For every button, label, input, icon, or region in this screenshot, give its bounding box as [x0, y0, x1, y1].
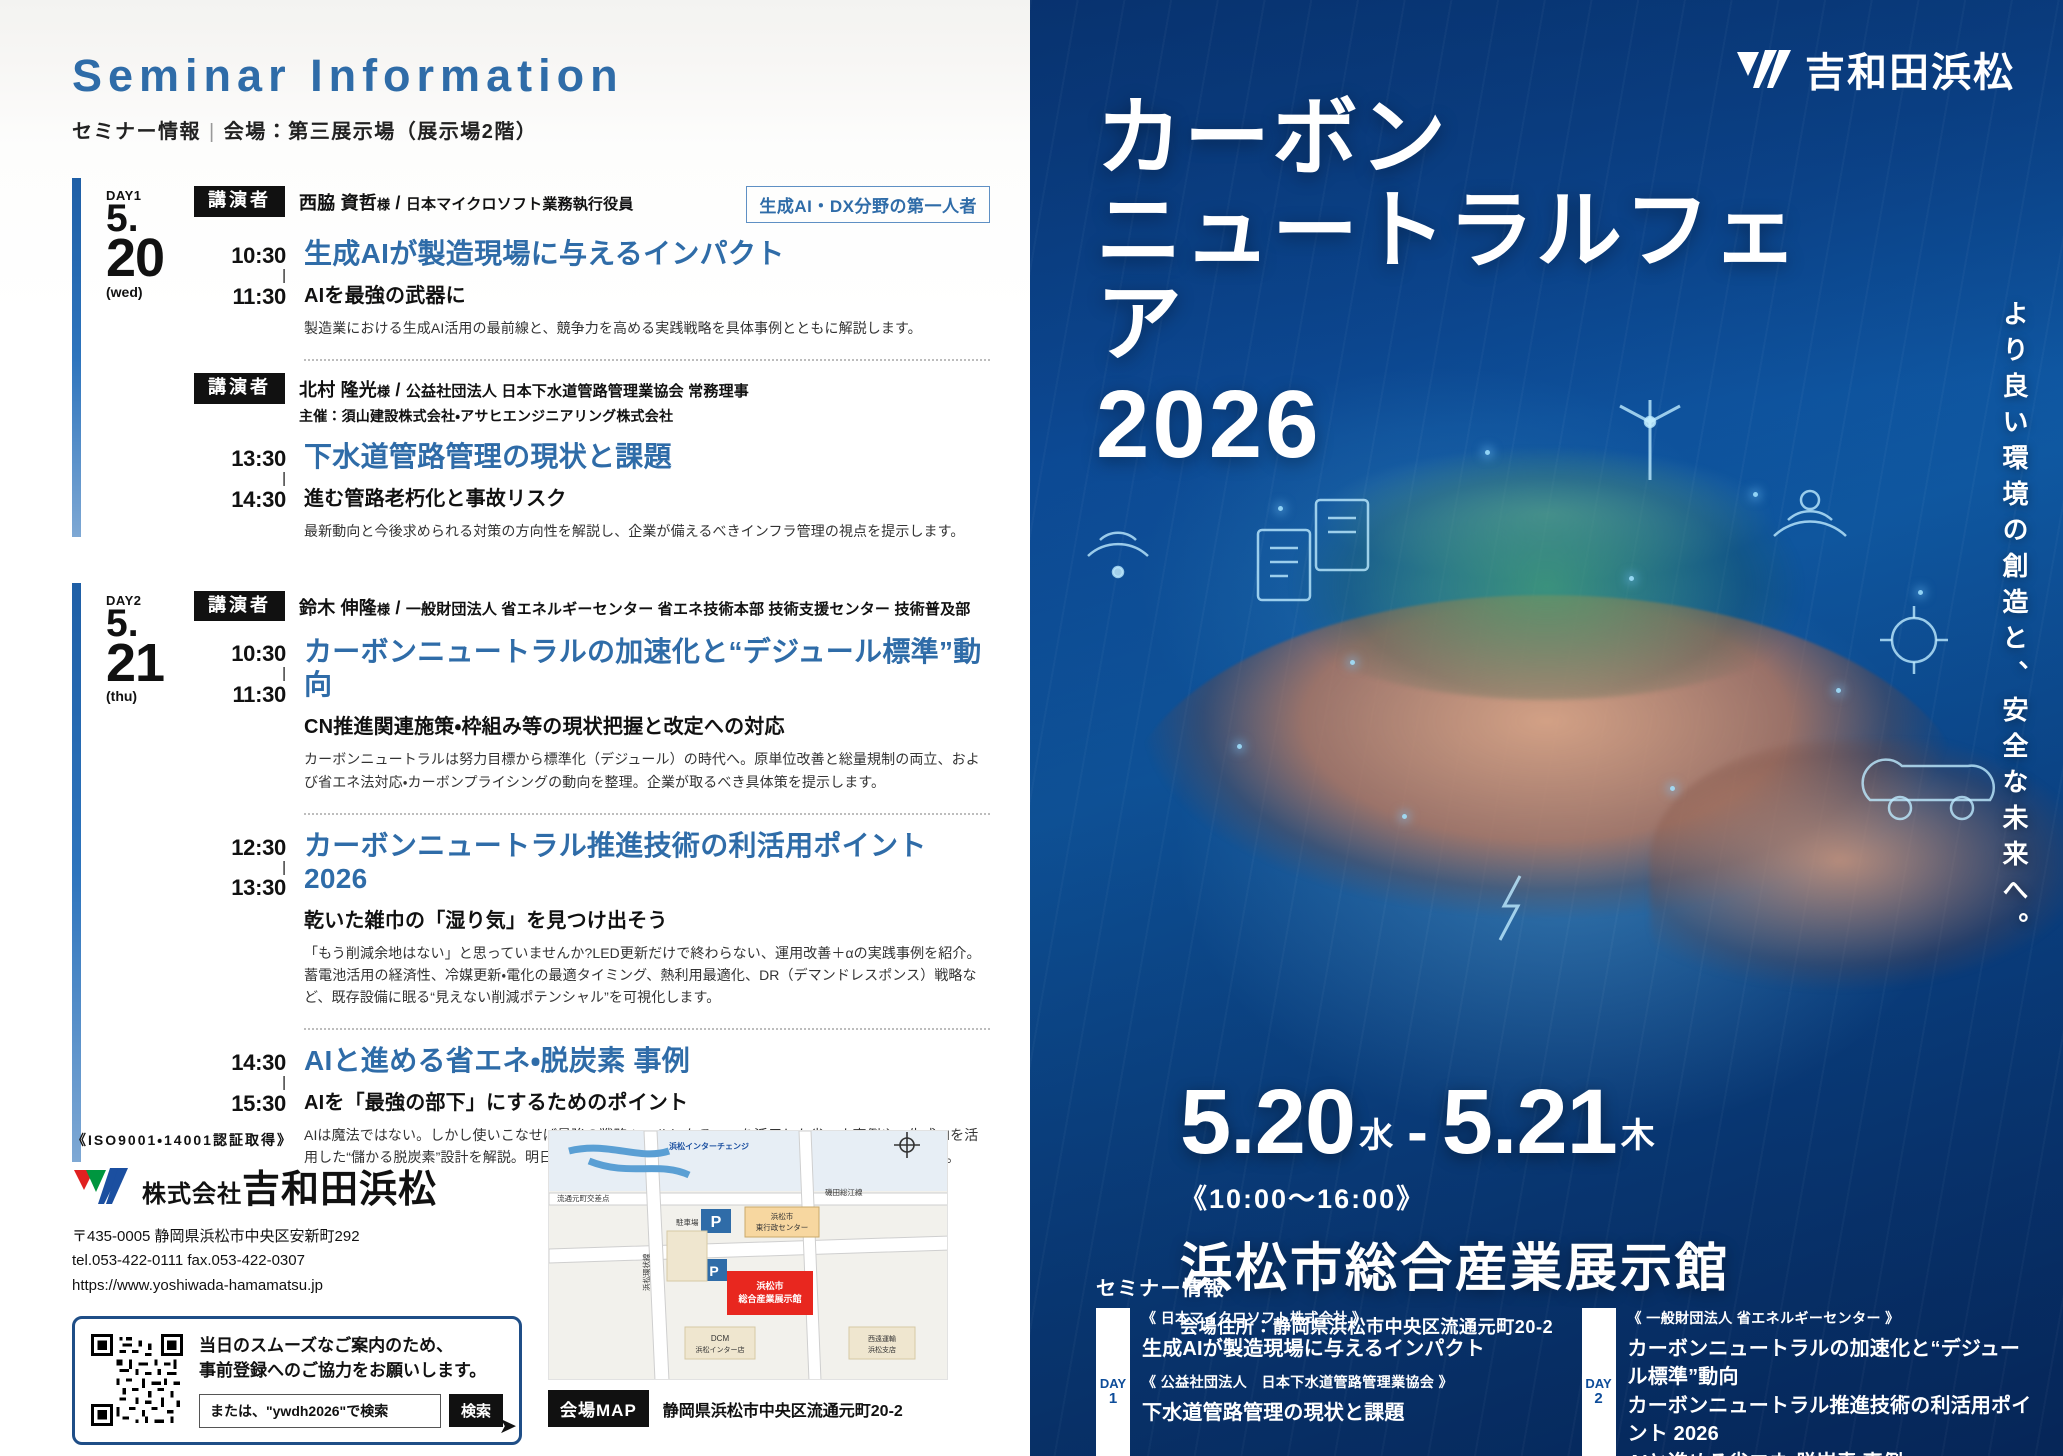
footer-day-word: DAY — [1100, 1377, 1126, 1391]
speaker-honorific: 様 — [377, 602, 390, 617]
session-item: 10:30 | 11:30 カーボンニュートラルの加速化と“デジュール標準”動向… — [194, 635, 990, 792]
company-url[interactable]: https://www.yoshiwada-hamamatsu.jp — [72, 1274, 522, 1298]
session-divider — [304, 1028, 990, 1030]
speaker-separator: / — [395, 380, 400, 400]
svg-text:西遠運輸: 西遠運輸 — [868, 1334, 896, 1343]
event-dates: 5.20 水 - 5.21 木 — [1180, 1070, 2040, 1175]
day2-date-column: DAY2 5. 21 (thu) — [106, 579, 194, 704]
svg-text:浜松市: 浜松市 — [771, 1211, 794, 1221]
day2-sessions: 講演者 鈴木 伸隆様 / 一般財団法人 省エネルギーセンター 省エネ技術本部 技… — [194, 579, 990, 1169]
day1-sessions: 講演者 西脇 資哲様 / 日本マイクロソフト業務執行役員 生成AI・DX分野の第… — [194, 174, 990, 542]
session-content: 生成AIが製造現場に与えるインパクト AIを最強の武器に 製造業における生成AI… — [304, 237, 922, 339]
time-dash: | — [194, 669, 286, 680]
company-tel-fax: tel.053-422-0111 fax.053-422-0307 — [72, 1249, 522, 1273]
time-dash: | — [194, 863, 286, 874]
session-host: 主催：須山建設株式会社・アサヒエンジニアリング株式会社 — [299, 406, 749, 426]
tagline-vertical: より良い環境の創造と、安全な未来へ。 — [1998, 300, 2029, 948]
session-item: 12:30 | 13:30 カーボンニュートラル推進技術の利活用ポイント 202… — [194, 829, 990, 1008]
session-item: 13:30 | 14:30 下水道管路管理の現状と課題 進む管路老朽化と事故リス… — [194, 440, 990, 542]
session-end-time: 11:30 — [194, 682, 286, 708]
speaker-info: 西脇 資哲様 / 日本マイクロソフト業務執行役員 — [299, 186, 634, 215]
left-footer: 《ISO9001・14001認証取得》 株式会社吉和田浜松 — [72, 1130, 1002, 1445]
session-subtitle: AIを「最強の部下」にするためのポイント — [304, 1086, 990, 1115]
left-panel: Seminar Information セミナー情報|会場：第三展示場（展示場2… — [0, 0, 1030, 1456]
session-title: AIと進める省エネ・脱炭素 事例 — [304, 1044, 990, 1077]
speaker-name: 鈴木 伸隆 — [299, 598, 377, 618]
time-dash: | — [194, 271, 286, 282]
session-end-time: 11:30 — [194, 284, 286, 310]
flyer-page: Seminar Information セミナー情報|会場：第三展示場（展示場2… — [0, 0, 2063, 1456]
registration-box[interactable]: 当日のスムーズなご案内のため、 事前登録へのご協力をお願いします。 または、"y… — [72, 1316, 522, 1445]
search-button[interactable]: 検索 ➤ — [449, 1394, 503, 1427]
page-subtitle: セミナー情報|会場：第三展示場（展示場2階） — [72, 115, 990, 144]
event-title-line1: カーボン — [1096, 92, 1876, 185]
footer-card-day1: DAY 1 《 日本マイクロソフト株式会社 》 生成AIが製造現場に与えるインパ… — [1096, 1308, 1548, 1456]
speaker-info: 北村 隆光様 / 公益社団法人 日本下水道管路管理業協会 常務理事 主催：須山建… — [299, 373, 749, 426]
session-end-time: 15:30 — [194, 1091, 286, 1117]
event-date-2: 5.21 — [1442, 1070, 1617, 1175]
svg-text:P: P — [711, 1214, 722, 1231]
speaker-name-row: 北村 隆光様 / 公益社団法人 日本下水道管路管理業協会 常務理事 — [299, 376, 749, 402]
session-divider — [304, 813, 990, 815]
day2-group-1: DAY2 5. 21 (thu) 講演者 鈴木 伸隆様 / 一般財団法人 省エネ… — [106, 579, 990, 1169]
event-title-line2: ニュートラルフェア — [1096, 185, 1876, 371]
speaker-line: 講演者 西脇 資哲様 / 日本マイクロソフト業務執行役員 生成AI・DX分野の第… — [194, 174, 990, 223]
brand-logo-text: 吉和田浜松 — [1805, 40, 2015, 98]
speaker-separator: / — [395, 193, 400, 213]
session-start-time: 12:30 — [194, 835, 286, 861]
day1-group-1: DAY1 5. 20 (wed) 講演者 西脇 資哲様 / 日本マイクロソフト業… — [106, 174, 990, 542]
svg-text:浜松インターチェンジ: 浜松インターチェンジ — [669, 1141, 749, 1151]
right-panel: 吉和田浜松 カーボン ニュートラルフェア 2026 より良い環境の創造と、安全な… — [1030, 0, 2063, 1456]
brand-logo: 吉和田浜松 — [1735, 40, 2015, 98]
footer-day-tag: DAY 1 — [1096, 1308, 1130, 1456]
session-description: 製造業における生成AI活用の最前線と、競争力を高める実践戦略を具体事例とともに解… — [304, 317, 922, 339]
footer-item-1: 生成AIが製造現場に与えるインパクト — [1142, 1335, 1548, 1363]
svg-text:駐車場: 駐車場 — [676, 1217, 699, 1227]
session-end-time: 13:30 — [194, 875, 286, 901]
brand-logo-icon — [1735, 48, 1791, 90]
session-description: 「もう削減余地はない」と思っていませんか?LED更新だけで終わらない、運用改善＋… — [304, 942, 990, 1008]
cursor-icon: ➤ — [499, 1413, 517, 1439]
speaker-name-row: 鈴木 伸隆様 / 一般財団法人 省エネルギーセンター 省エネ技術本部 技術支援セ… — [299, 594, 971, 620]
footer-card-day2: DAY 2 《 一般財団法人 省エネルギーセンター 》 カーボンニュートラルの加… — [1582, 1308, 2034, 1456]
subtitle-main: セミナー情報 — [72, 121, 201, 143]
footer-item-2: カーボンニュートラル推進技術の利活用ポイント 2026 — [1628, 1392, 2034, 1449]
svg-text:東行政センター: 東行政センター — [756, 1222, 809, 1232]
registration-line-2: 事前登録へのご協力をお願いします。 — [199, 1358, 503, 1384]
speaker-org: 日本マイクロソフト業務執行役員 — [406, 196, 634, 213]
speaker-info: 鈴木 伸隆様 / 一般財団法人 省エネルギーセンター 省エネ技術本部 技術支援セ… — [299, 591, 971, 620]
session-subtitle: 進む管路老朽化と事故リスク — [304, 482, 964, 511]
svg-text:浜松支店: 浜松支店 — [868, 1345, 896, 1354]
session-title: 生成AIが製造現場に与えるインパクト — [304, 237, 922, 270]
footer-cards: DAY 1 《 日本マイクロソフト株式会社 》 生成AIが製造現場に与えるインパ… — [1096, 1308, 2033, 1456]
speaker-separator: / — [395, 598, 400, 618]
session-end-time: 14:30 — [194, 487, 286, 513]
day1-date-column: DAY1 5. 20 (wed) — [106, 174, 194, 299]
venue-map-image: 浜松市 総合産業展示館 P P 浜松市 東行政センター DCM — [548, 1130, 948, 1380]
seminar-header: Seminar Information セミナー情報|会場：第三展示場（展示場2… — [72, 52, 990, 144]
event-date-1: 5.20 — [1180, 1070, 1355, 1175]
map-address: 静岡県浜松市中央区流通元町20-2 — [663, 1397, 903, 1421]
event-time: 《10:00〜16:00》 — [1180, 1177, 2040, 1216]
speaker-honorific: 様 — [377, 197, 390, 212]
company-contact: 〒435-0005 静岡県浜松市中央区安新町292 tel.053-422-01… — [72, 1225, 522, 1298]
speaker-org: 公益社団法人 日本下水道管路管理業協会 常務理事 — [406, 383, 749, 400]
session-time: 10:30 | 11:30 — [194, 635, 304, 708]
svg-text:磯田総江線: 磯田総江線 — [825, 1187, 863, 1197]
qr-code-icon[interactable] — [91, 1334, 183, 1426]
time-dash: | — [194, 1078, 286, 1089]
session-start-time: 14:30 — [194, 1050, 286, 1076]
event-date-1-dow: 水 — [1359, 1108, 1393, 1157]
svg-text:浜松環状線: 浜松環状線 — [641, 1253, 651, 1291]
company-logo-icon — [72, 1166, 128, 1206]
svg-text:浜松インター店: 浜松インター店 — [696, 1345, 745, 1354]
footer-day-tag: DAY 2 — [1582, 1308, 1616, 1456]
speaker-line: 講演者 北村 隆光様 / 公益社団法人 日本下水道管路管理業協会 常務理事 主催… — [194, 361, 990, 426]
speaker-name: 西脇 資哲 — [299, 193, 377, 213]
day-block-1: DAY1 5. 20 (wed) 講演者 西脇 資哲様 / 日本マイクロソフト業… — [72, 174, 990, 542]
day-block-2: DAY2 5. 21 (thu) 講演者 鈴木 伸隆様 / 一般財団法人 省エネ… — [72, 579, 990, 1169]
event-date-2-dow: 木 — [1621, 1108, 1655, 1157]
page-title: Seminar Information — [72, 52, 990, 99]
svg-text:DCM: DCM — [711, 1334, 730, 1343]
footer-day-number: 2 — [1594, 1391, 1602, 1408]
svg-text:総合産業展示館: 総合産業展示館 — [737, 1293, 801, 1304]
company-logo-row: 株式会社吉和田浜松 — [72, 1158, 522, 1213]
registration-text: 当日のスムーズなご案内のため、 事前登録へのご協力をお願いします。 または、"y… — [199, 1333, 503, 1428]
footer-day-number: 1 — [1109, 1391, 1117, 1408]
speaker-badge: 講演者 — [194, 186, 285, 217]
session-start-time: 13:30 — [194, 446, 286, 472]
footer-day-word: DAY — [1585, 1377, 1611, 1391]
iso-certification: 《ISO9001・14001認証取得》 — [72, 1130, 522, 1150]
footer-item-2: 下水道管路管理の現状と課題 — [1142, 1399, 1548, 1427]
speaker-line: 講演者 鈴木 伸隆様 / 一般財団法人 省エネルギーセンター 省エネ技術本部 技… — [194, 579, 990, 622]
footer-org-2: 《 公益社団法人 日本下水道管路管理業協会 》 — [1142, 1372, 1548, 1392]
footer-item-1: カーボンニュートラルの加速化と“デジュール標準”動向 — [1628, 1335, 2034, 1392]
footer-card-body: 《 一般財団法人 省エネルギーセンター 》 カーボンニュートラルの加速化と“デジ… — [1628, 1308, 2034, 1456]
session-time: 13:30 | 14:30 — [194, 440, 304, 513]
subtitle-divider: | — [201, 121, 224, 143]
session-time: 12:30 | 13:30 — [194, 829, 304, 902]
registration-line-1: 当日のスムーズなご案内のため、 — [199, 1333, 503, 1359]
speaker-tag-badge: 生成AI・DX分野の第一人者 — [746, 186, 990, 223]
company-name: 吉和田浜松 — [242, 1169, 437, 1211]
speaker-badge: 講演者 — [194, 373, 285, 404]
session-subtitle: AIを最強の武器に — [304, 279, 922, 308]
date-separator: - — [1397, 1097, 1438, 1168]
hand-illustration — [1030, 380, 2063, 1080]
session-title: カーボンニュートラルの加速化と“デジュール標準”動向 — [304, 635, 990, 701]
session-content: 下水道管路管理の現状と課題 進む管路老朽化と事故リスク 最新動向と今後求められる… — [304, 440, 964, 542]
session-item: 10:30 | 11:30 生成AIが製造現場に与えるインパクト AIを最強の武… — [194, 237, 990, 339]
session-content: カーボンニュートラル推進技術の利活用ポイント 2026 乾いた雑巾の「湿り気」を… — [304, 829, 990, 1008]
session-start-time: 10:30 — [194, 641, 286, 667]
time-dash: | — [194, 474, 286, 485]
session-time: 14:30 | 15:30 — [194, 1044, 304, 1117]
right-footer: セミナー情報 DAY 1 《 日本マイクロソフト株式会社 》 生成AIが製造現場… — [1030, 1256, 2063, 1456]
footer-card-body: 《 日本マイクロソフト株式会社 》 生成AIが製造現場に与えるインパクト 《 公… — [1142, 1308, 1548, 1456]
speaker-org: 一般財団法人 省エネルギーセンター 省エネ技術本部 技術支援センター 技術普及部 — [406, 601, 971, 618]
speaker-honorific: 様 — [377, 384, 390, 399]
eco-icons — [1030, 380, 2063, 1080]
event-title: カーボン ニュートラルフェア 2026 — [1096, 92, 1876, 475]
session-start-time: 10:30 — [194, 243, 286, 269]
session-description: カーボンニュートラルは努力目標から標準化（デジュール）の時代へ。原単位改善と総量… — [304, 748, 990, 792]
day1-date: 20 — [106, 235, 194, 283]
map-address-row: 会場MAP 静岡県浜松市中央区流通元町20-2 — [548, 1390, 1002, 1427]
speaker-badge: 講演者 — [194, 591, 285, 622]
search-button-label: 検索 — [461, 1403, 491, 1420]
svg-text:流通元町交差点: 流通元町交差点 — [557, 1193, 610, 1203]
venue-map-block: 浜松市 総合産業展示館 P P 浜松市 東行政センター DCM — [548, 1130, 1002, 1445]
speaker-name-row: 西脇 資哲様 / 日本マイクロソフト業務執行役員 — [299, 189, 634, 215]
subtitle-venue: 会場：第三展示場（展示場2階） — [224, 121, 538, 143]
session-subtitle: CN推進関連施策・枠組み等の現状把握と改定への対応 — [304, 710, 990, 739]
session-subtitle: 乾いた雑巾の「湿り気」を見つけ出そう — [304, 904, 990, 933]
session-time: 10:30 | 11:30 — [194, 237, 304, 310]
session-content: カーボンニュートラルの加速化と“デジュール標準”動向 CN推進関連施策・枠組み等… — [304, 635, 990, 792]
footer-seminar-label: セミナー情報 — [1096, 1272, 1225, 1301]
search-row[interactable]: または、"ywdh2026"で検索 検索 ➤ — [199, 1394, 503, 1428]
company-type: 株式会社 — [142, 1181, 242, 1208]
footer-org-1: 《 一般財団法人 省エネルギーセンター 》 — [1628, 1308, 2034, 1328]
speaker-name: 北村 隆光 — [299, 380, 377, 400]
session-title: カーボンニュートラル推進技術の利活用ポイント 2026 — [304, 829, 990, 895]
footer-item-3: AIと進める省エネ・脱炭素 事例 — [1628, 1449, 2034, 1456]
session-title: 下水道管路管理の現状と課題 — [304, 440, 964, 473]
svg-text:P: P — [709, 1263, 718, 1279]
footer-org-1: 《 日本マイクロソフト株式会社 》 — [1142, 1308, 1548, 1328]
map-label-badge: 会場MAP — [548, 1390, 649, 1427]
map-graphic: 浜松市 総合産業展示館 P P 浜松市 東行政センター DCM — [549, 1131, 948, 1380]
company-name-row: 株式会社吉和田浜松 — [142, 1158, 437, 1213]
search-input[interactable]: または、"ywdh2026"で検索 — [199, 1394, 441, 1428]
day2-date: 21 — [106, 640, 194, 688]
company-address: 〒435-0005 静岡県浜松市中央区安新町292 — [72, 1225, 522, 1249]
session-description: 最新動向と今後求められる対策の方向性を解説し、企業が備えるべきインフラ管理の視点… — [304, 520, 964, 542]
svg-text:浜松市: 浜松市 — [756, 1280, 783, 1291]
company-block: 《ISO9001・14001認証取得》 株式会社吉和田浜松 — [72, 1130, 522, 1445]
event-year: 2026 — [1096, 375, 1876, 476]
